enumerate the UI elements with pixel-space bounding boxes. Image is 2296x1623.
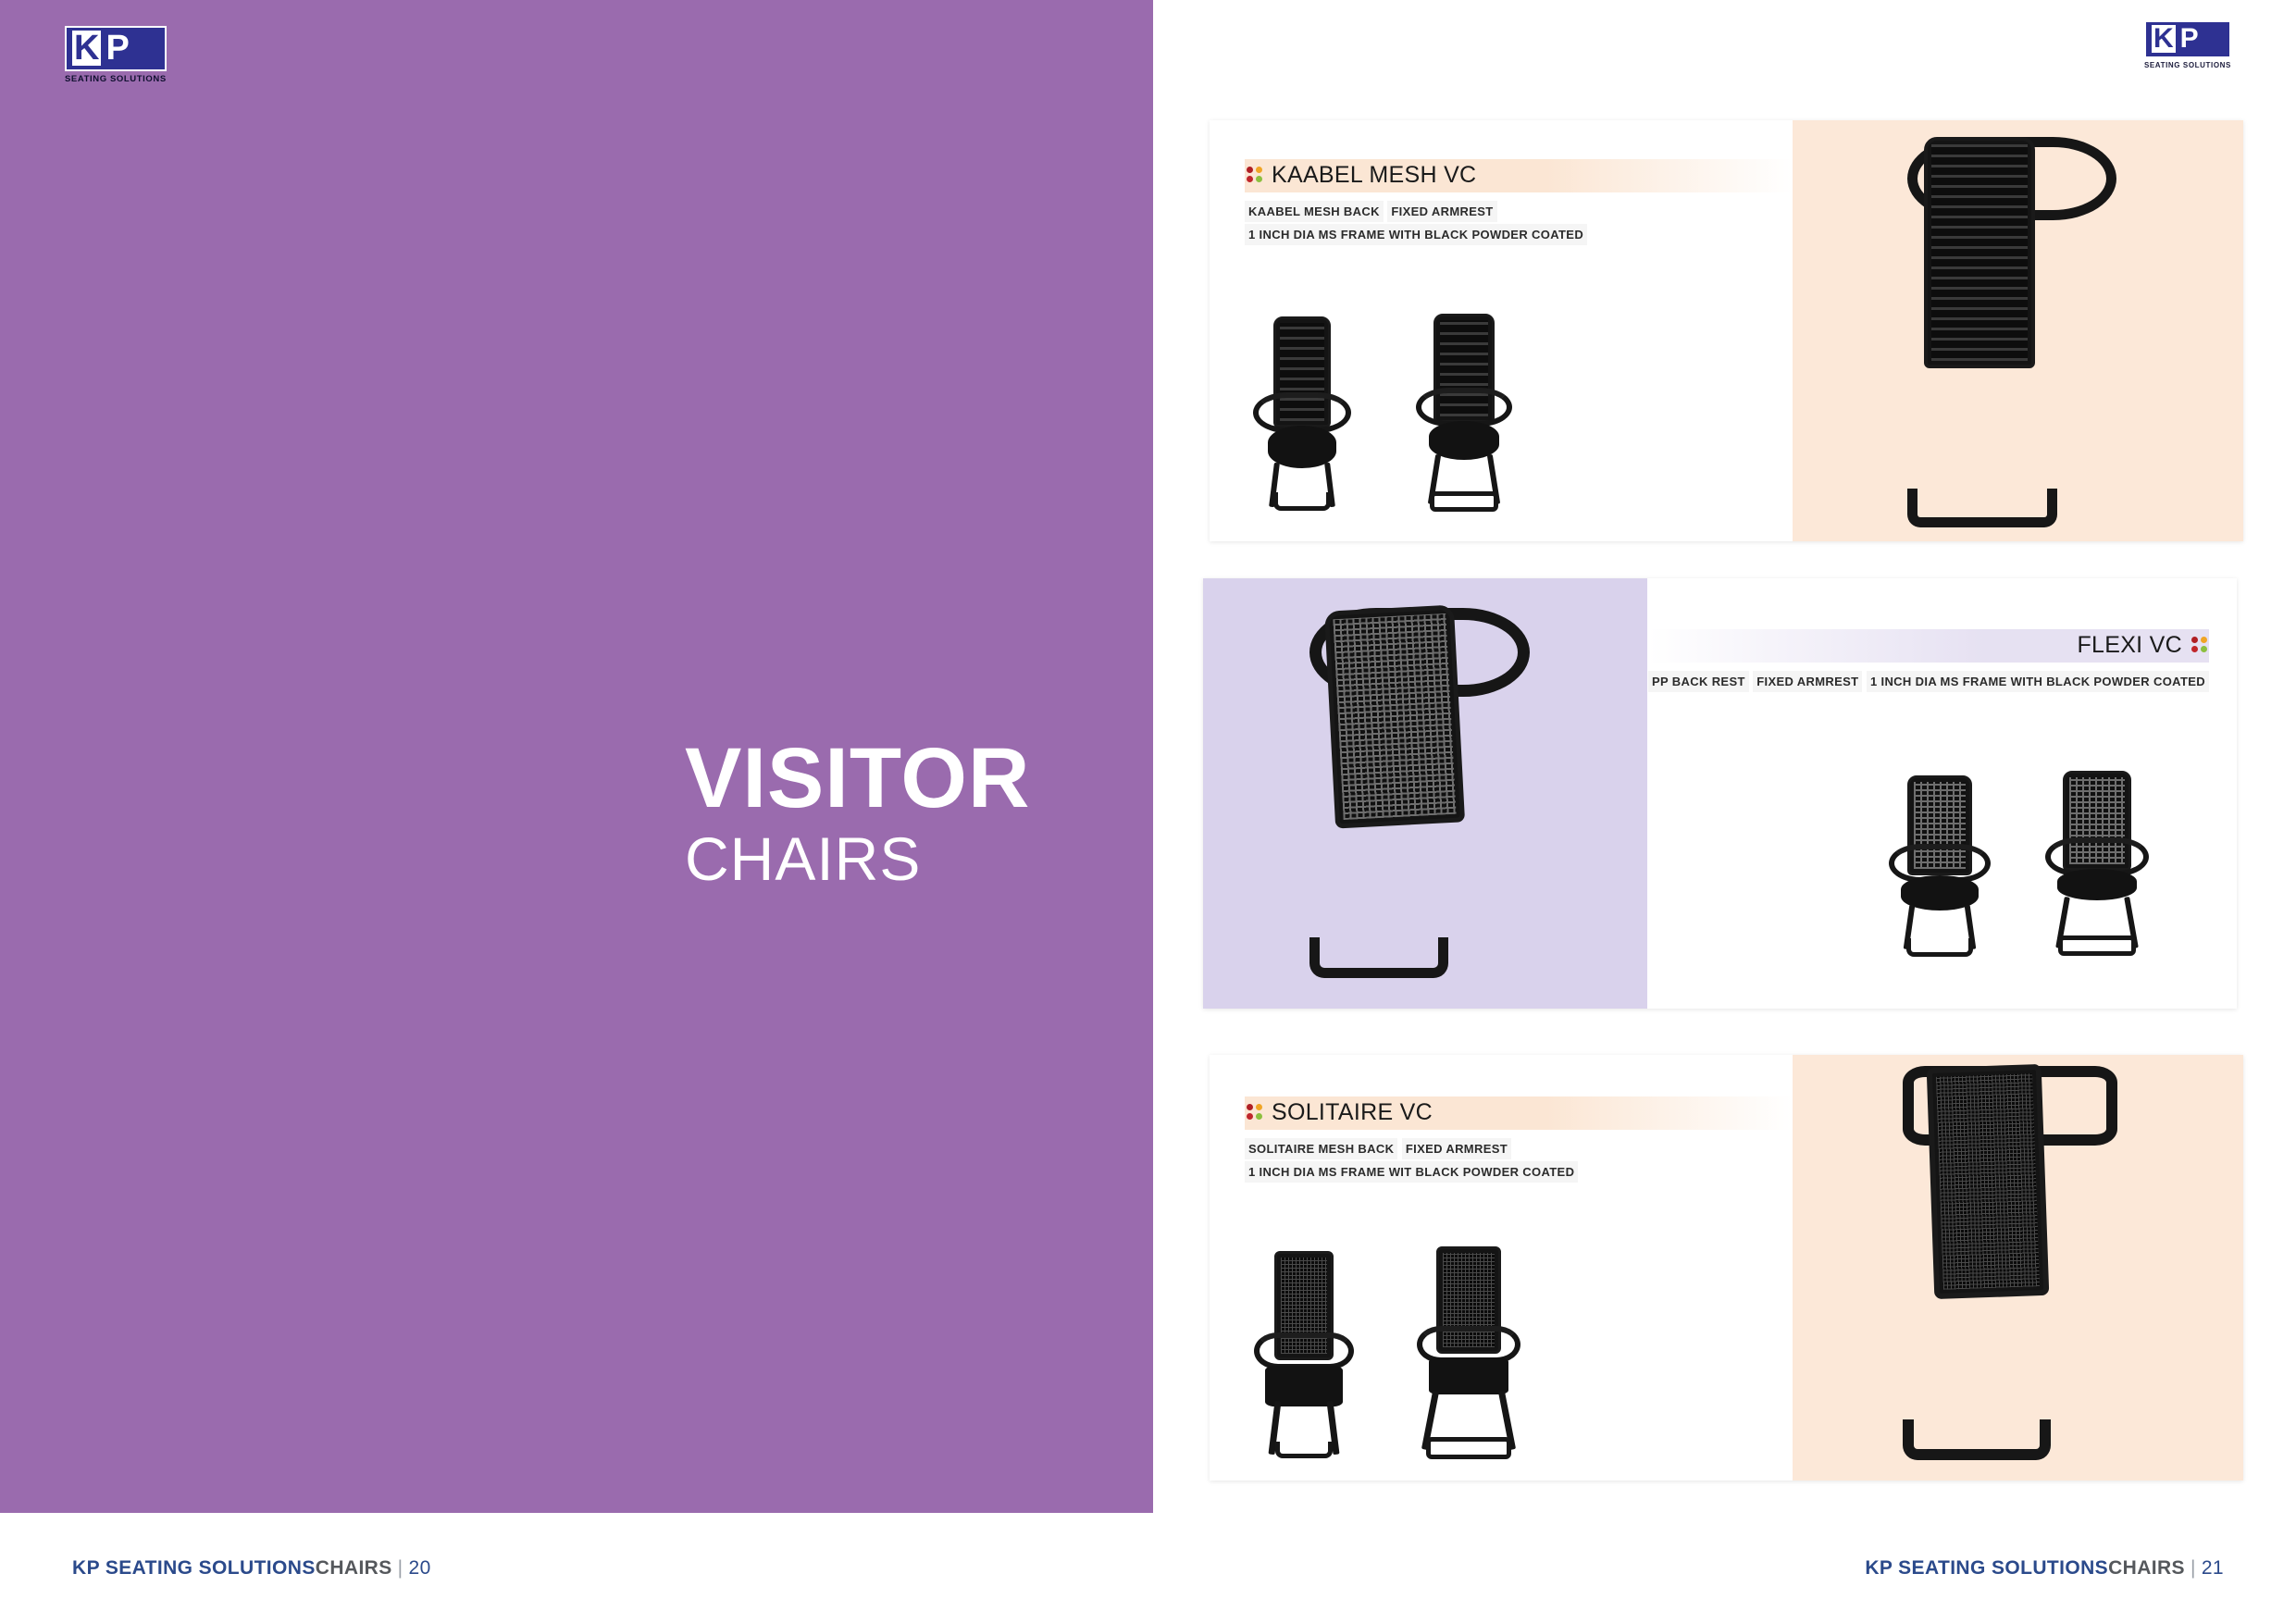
footer-brand: KP SEATING SOLUTIONS <box>1865 1557 2108 1579</box>
product-spec: 1 INCH DIA MS FRAME WITH BLACK POWDER CO… <box>1867 671 2209 692</box>
kp-logo-tagline: SEATING SOLUTIONS <box>2144 61 2231 69</box>
footer-right: KP SEATING SOLUTIONSCHAIRS|21 <box>1865 1557 2224 1580</box>
product-spec: FIXED ARMREST <box>1387 201 1496 222</box>
kp-logo-mark: K P <box>65 26 167 71</box>
logo-top-right: K P SEATING SOLUTIONS <box>2144 20 2231 72</box>
product-info-pane: SOLITAIRE VC SOLITAIRE MESH BACK FIXED A… <box>1210 1055 1793 1481</box>
chair-thumbnail-front <box>1251 1251 1357 1464</box>
product-title-row: FLEXI VC <box>1648 629 2209 663</box>
chair-thumbnail-back <box>1413 314 1515 515</box>
chair-hero-image <box>1903 1066 2134 1464</box>
hero-title-block: VISITOR CHAIRS <box>685 736 1030 891</box>
product-text-block: SOLITAIRE VC SOLITAIRE MESH BACK FIXED A… <box>1245 1096 1793 1183</box>
product-spec: 1 INCH DIA MS FRAME WIT BLACK POWDER COA… <box>1245 1161 1578 1183</box>
footer-section: CHAIRS <box>2108 1557 2185 1579</box>
product-info-pane: FLEXI VC PP BACK REST FIXED ARMREST 1 IN… <box>1647 578 2237 1009</box>
product-spec-list: PP BACK REST FIXED ARMREST 1 INCH DIA MS… <box>1648 669 2209 692</box>
footer-left: KP SEATING SOLUTIONSCHAIRS|20 <box>72 1557 431 1580</box>
product-spec-list: SOLITAIRE MESH BACK FIXED ARMREST 1 INCH… <box>1245 1136 1793 1183</box>
chair-hero-image <box>1309 608 1541 978</box>
product-hero-pane <box>1793 1055 2243 1481</box>
product-spec: FIXED ARMREST <box>1402 1138 1511 1159</box>
product-title: SOLITAIRE VC <box>1272 1099 1433 1126</box>
product-title: FLEXI VC <box>2077 632 2182 659</box>
four-dots-icon <box>1247 167 1262 185</box>
chair-thumbnail-back <box>2045 771 2149 960</box>
kp-letter-k: K <box>72 31 101 66</box>
product-thumbnail-pair <box>1251 314 1515 515</box>
catalog-spread: K P SEATING SOLUTIONS VISITOR CHAIRS K P… <box>0 0 2296 1623</box>
chair-hero-image <box>1907 137 2129 526</box>
chair-thumbnail-back <box>1414 1246 1523 1464</box>
chair-thumbnail-front <box>1251 316 1353 515</box>
product-text-block: FLEXI VC PP BACK REST FIXED ARMREST 1 IN… <box>1648 629 2209 692</box>
product-thumbnail-pair <box>1888 771 2149 960</box>
kp-letter-k: K <box>2152 25 2176 53</box>
product-thumbnail-pair <box>1251 1246 1523 1464</box>
product-hero-pane <box>1203 578 1647 1009</box>
product-text-block: KAABEL MESH VC KAABEL MESH BACK FIXED AR… <box>1245 159 1793 245</box>
hero-title: VISITOR <box>685 736 1030 821</box>
footer-section: CHAIRS <box>316 1557 392 1579</box>
page-footer: KP SEATING SOLUTIONSCHAIRS|20 KP SEATING… <box>0 1513 2296 1623</box>
product-spec: KAABEL MESH BACK <box>1245 201 1384 222</box>
footer-page-number: 21 <box>2202 1557 2224 1579</box>
kp-logo-secondary: K P SEATING SOLUTIONS <box>2144 20 2231 69</box>
product-spec: 1 INCH DIA MS FRAME WITH BLACK POWDER CO… <box>1245 224 1587 245</box>
kp-logo-tagline: SEATING SOLUTIONS <box>65 74 167 84</box>
kp-logo: K P SEATING SOLUTIONS <box>65 26 167 84</box>
product-spec: PP BACK REST <box>1648 671 1749 692</box>
kp-letter-p: P <box>104 31 130 66</box>
footer-page-number: 20 <box>409 1557 431 1579</box>
product-spec: FIXED ARMREST <box>1753 671 1862 692</box>
hero-subtitle: CHAIRS <box>685 826 1030 891</box>
product-info-pane: KAABEL MESH VC KAABEL MESH BACK FIXED AR… <box>1210 120 1793 541</box>
footer-separator: | <box>2185 1557 2202 1579</box>
four-dots-icon <box>1247 1104 1262 1122</box>
product-spec: SOLITAIRE MESH BACK <box>1245 1138 1397 1159</box>
product-card-solitaire[interactable]: SOLITAIRE VC SOLITAIRE MESH BACK FIXED A… <box>1210 1055 2243 1481</box>
product-title-row: SOLITAIRE VC <box>1245 1096 1793 1130</box>
footer-separator: | <box>392 1557 409 1579</box>
footer-brand: KP SEATING SOLUTIONS <box>72 1557 316 1579</box>
four-dots-icon <box>2191 637 2207 655</box>
product-hero-pane <box>1793 120 2243 541</box>
product-title-row: KAABEL MESH VC <box>1245 159 1793 192</box>
kp-letter-p: P <box>2178 25 2201 53</box>
kp-logo-mark-secondary: K P <box>2144 20 2231 58</box>
product-spec-list: KAABEL MESH BACK FIXED ARMREST 1 INCH DI… <box>1245 199 1793 245</box>
product-card-kaabel[interactable]: KAABEL MESH VC KAABEL MESH BACK FIXED AR… <box>1210 120 2243 541</box>
chair-thumbnail-front <box>1888 775 1992 960</box>
logo-top-left: K P SEATING SOLUTIONS <box>65 26 167 86</box>
product-card-flexi[interactable]: FLEXI VC PP BACK REST FIXED ARMREST 1 IN… <box>1203 578 2237 1009</box>
product-title: KAABEL MESH VC <box>1272 162 1476 189</box>
